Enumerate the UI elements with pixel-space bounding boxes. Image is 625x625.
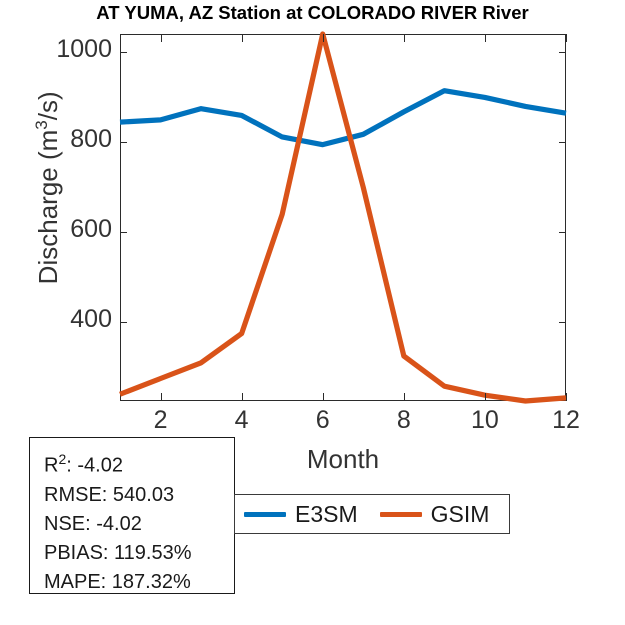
x-tick-mark [323, 393, 324, 401]
x-tick-mark [485, 393, 486, 401]
x-tick-mark-top [161, 34, 162, 42]
x-tick-label: 12 [536, 408, 596, 433]
legend-label-e3sm: E3SM [295, 501, 358, 528]
y-tick-mark-right [559, 142, 566, 143]
x-tick-mark [242, 393, 243, 401]
x-tick-mark-top [566, 34, 567, 42]
x-tick-mark-top [404, 34, 405, 42]
x-tick-mark [161, 393, 162, 401]
x-tick-mark-top [323, 34, 324, 42]
stat-pbias: PBIAS: 119.53% [44, 539, 234, 568]
x-tick-label: 8 [374, 408, 434, 433]
y-tick-mark [120, 52, 127, 53]
stat-nse: NSE: -4.02 [44, 510, 234, 539]
x-tick-mark-top [485, 34, 486, 42]
x-tick-label: 6 [293, 408, 353, 433]
x-tick-mark-top [242, 34, 243, 42]
y-tick-mark-right [559, 52, 566, 53]
statistics-box: R2: -4.02 RMSE: 540.03 NSE: -4.02 PBIAS:… [29, 437, 235, 594]
y-axis-label: Discharge (m3/s) [32, 8, 64, 368]
x-tick-mark [566, 393, 567, 401]
legend-item-gsim[interactable]: GSIM [380, 501, 490, 528]
x-tick-label: 10 [455, 408, 515, 433]
legend-label-gsim: GSIM [431, 501, 490, 528]
y-tick-mark [120, 142, 127, 143]
stat-rmse: RMSE: 540.03 [44, 481, 234, 510]
series-canvas [120, 34, 566, 401]
legend-item-e3sm[interactable]: E3SM [244, 501, 358, 528]
y-tick-mark-right [559, 322, 566, 323]
chart-page: AT YUMA, AZ Station at COLORADO RIVER Ri… [0, 0, 625, 625]
page-title: AT YUMA, AZ Station at COLORADO RIVER Ri… [0, 2, 625, 24]
line-series-gsim [120, 34, 566, 401]
stat-r2: R2: -4.02 [44, 445, 234, 481]
legend-swatch-gsim [380, 512, 422, 517]
x-tick-label: 4 [212, 408, 272, 433]
y-tick-mark [120, 232, 127, 233]
x-tick-mark [404, 393, 405, 401]
stat-mape: MAPE: 187.32% [44, 568, 234, 597]
x-tick-label: 2 [131, 408, 191, 433]
legend-swatch-e3sm [244, 512, 286, 517]
y-tick-mark [120, 322, 127, 323]
y-tick-mark-right [559, 232, 566, 233]
legend: E3SM GSIM [234, 494, 510, 534]
